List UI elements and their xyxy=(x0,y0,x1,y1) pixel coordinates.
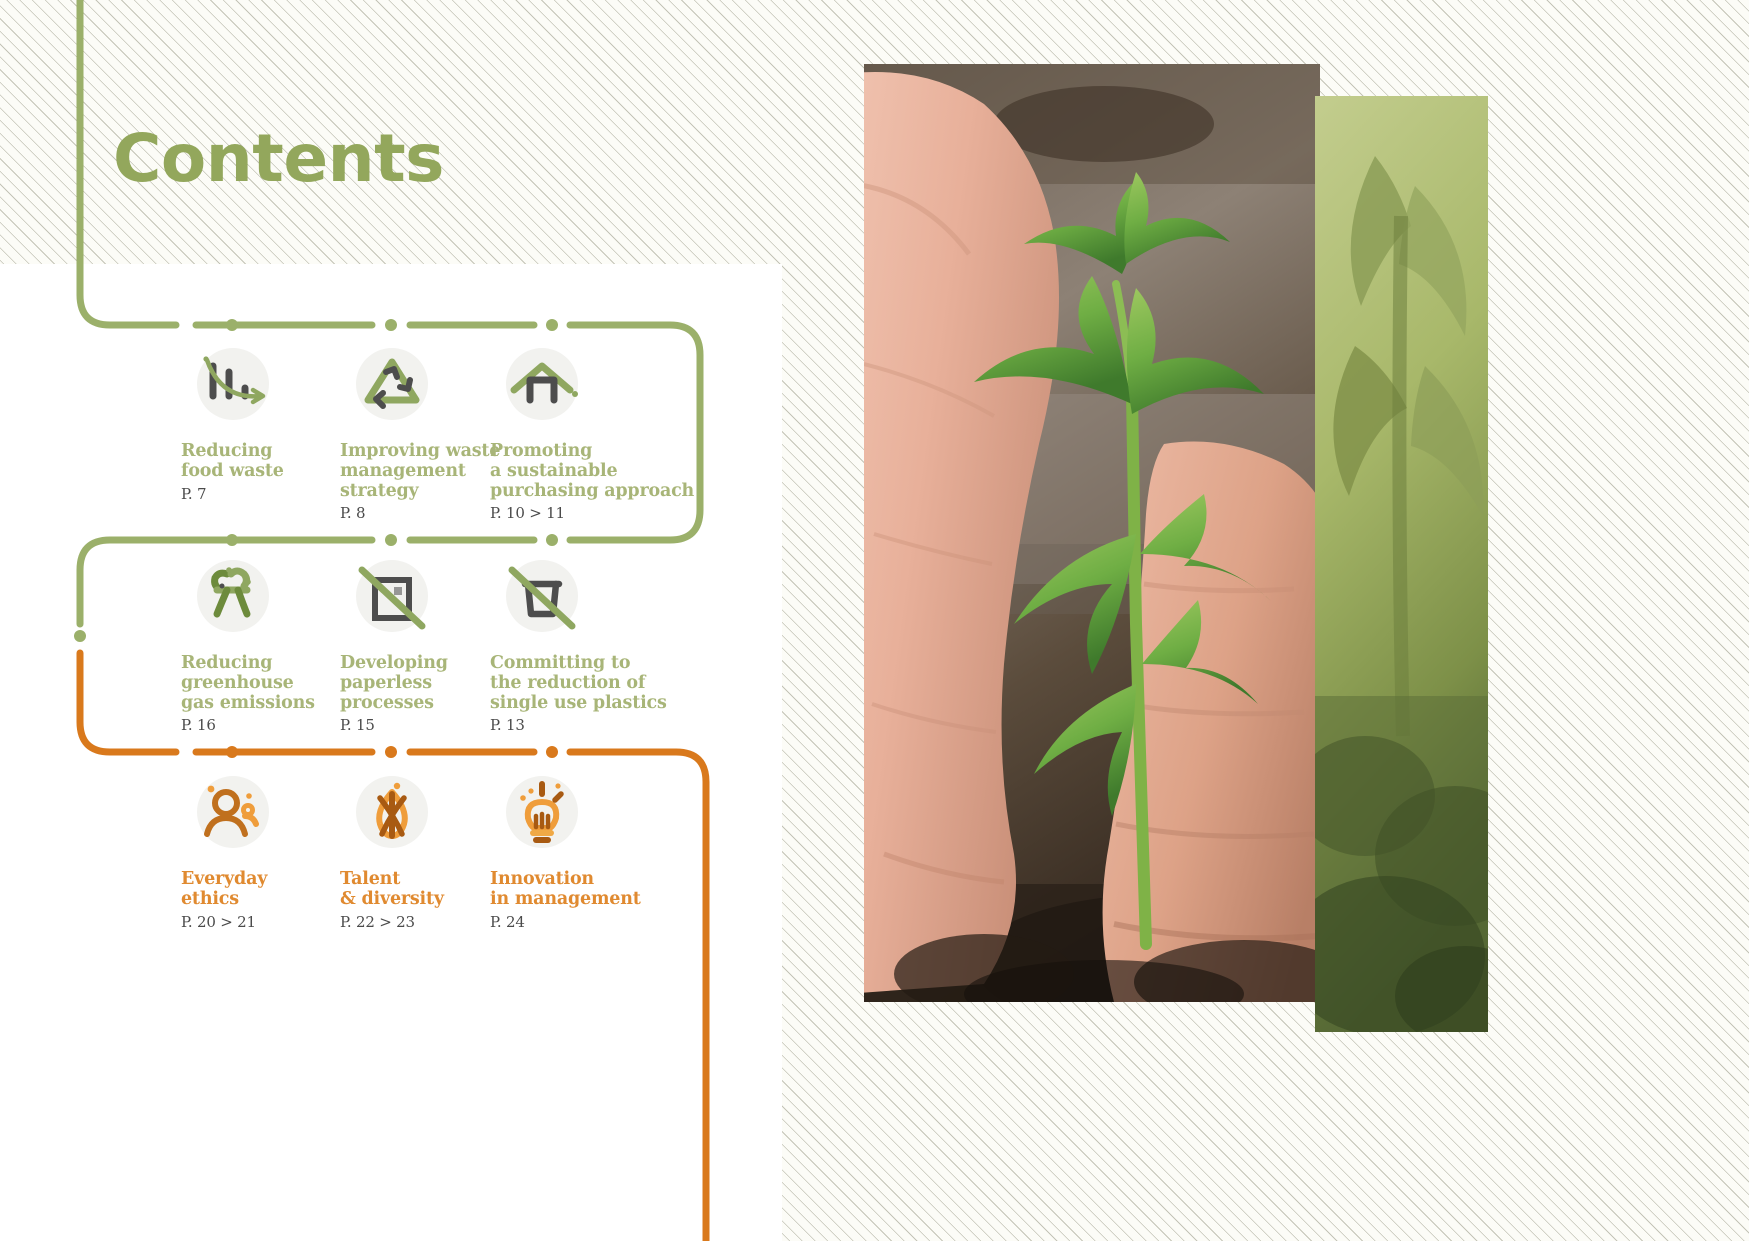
house-roof-icon xyxy=(500,344,584,428)
side-photo-strip-green-duotone xyxy=(1315,96,1488,1032)
entry-icon-wrap xyxy=(500,772,584,856)
entry-page-number: P. 10 > 11 xyxy=(490,504,740,522)
entry-icon-wrap xyxy=(500,556,584,640)
entry-heading: Innovation in management xyxy=(490,870,740,910)
no-paper-document-icon xyxy=(350,556,434,640)
no-plastic-cup-icon xyxy=(500,556,584,640)
entry-icon-wrap xyxy=(500,344,584,428)
people-group-icon xyxy=(191,772,275,856)
entry-icon-wrap xyxy=(191,772,275,856)
entry-page-number: P. 24 xyxy=(490,913,740,931)
contents-page: Contents xyxy=(0,0,1749,1241)
contents-entry-single-use-plastics[interactable]: Committing to the reduction of single us… xyxy=(490,556,740,734)
recycling-triangle-icon xyxy=(350,344,434,428)
contents-entry-innovation-management[interactable]: Innovation in management P. 24 xyxy=(490,772,740,931)
declining-chart-arrow-icon xyxy=(191,344,275,428)
entry-page-number: P. 13 xyxy=(490,716,740,734)
entry-heading: Committing to the reduction of single us… xyxy=(490,654,740,713)
main-photo-hands-planting-seedling xyxy=(864,64,1320,1002)
entry-icon-wrap xyxy=(191,344,275,428)
tree-icon xyxy=(191,556,275,640)
entry-icon-wrap xyxy=(350,772,434,856)
entry-heading: Promoting a sustainable purchasing appro… xyxy=(490,442,740,501)
leaf-diversity-icon xyxy=(350,772,434,856)
entry-icon-wrap xyxy=(350,556,434,640)
entry-icon-wrap xyxy=(350,344,434,428)
contents-entry-sustainable-purchasing[interactable]: Promoting a sustainable purchasing appro… xyxy=(490,344,740,522)
lightbulb-idea-icon xyxy=(500,772,584,856)
entry-icon-wrap xyxy=(191,556,275,640)
